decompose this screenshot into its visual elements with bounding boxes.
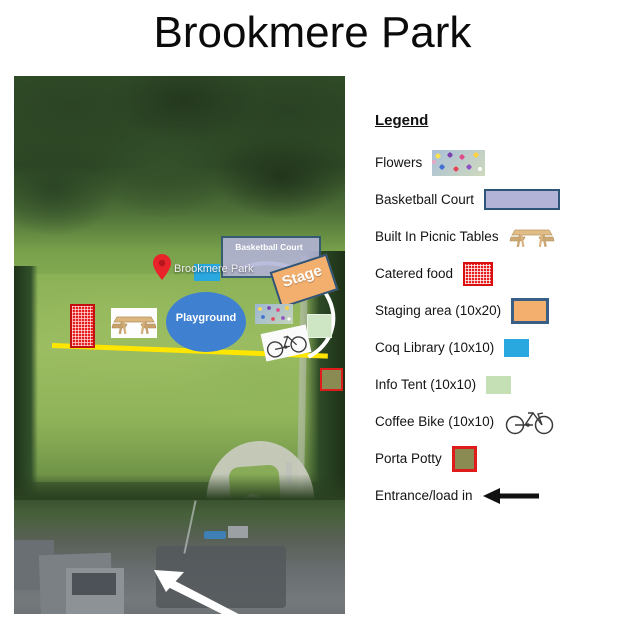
map-picnic-table[interactable] bbox=[111, 308, 157, 338]
bicycle-glyph bbox=[504, 409, 556, 435]
legend-label-catered-food: Catered food bbox=[375, 266, 453, 281]
staging-area-swatch bbox=[511, 298, 549, 324]
picnic-table-icon bbox=[509, 224, 555, 250]
map-porta-potty[interactable] bbox=[320, 368, 343, 391]
legend-label-flowers: Flowers bbox=[375, 155, 422, 170]
legend-item-staging-area[interactable]: Staging area (10x20) bbox=[375, 292, 620, 329]
shed bbox=[228, 526, 248, 538]
parking-lot bbox=[156, 546, 286, 608]
park-pin-label: Brookmere Park bbox=[174, 263, 253, 275]
catered-food-swatch bbox=[463, 262, 493, 286]
park-map[interactable]: Basketball Court Stage Playground bbox=[14, 76, 345, 614]
legend-item-picnic-tables[interactable]: Built In Picnic Tables bbox=[375, 218, 620, 255]
basketball-court-swatch bbox=[484, 189, 560, 210]
legend-label-porta-potty: Porta Potty bbox=[375, 451, 442, 466]
legend-label-staging-area: Staging area (10x20) bbox=[375, 303, 501, 318]
coffee-bike-icon bbox=[504, 409, 556, 435]
map-playground-label: Playground bbox=[166, 312, 246, 324]
legend: Legend Flowers Basketball Court Built In… bbox=[375, 112, 620, 514]
legend-label-coq-library: Coq Library (10x10) bbox=[375, 340, 494, 355]
legend-item-flowers[interactable]: Flowers bbox=[375, 144, 620, 181]
page-title: Brookmere Park bbox=[0, 8, 625, 58]
arrow-left-glyph bbox=[483, 486, 539, 506]
legend-title: Legend bbox=[375, 112, 620, 129]
treeline-left bbox=[14, 266, 38, 496]
legend-item-coffee-bike[interactable]: Coffee Bike (10x10) bbox=[375, 403, 620, 440]
building-roof bbox=[72, 573, 116, 595]
legend-label-info-tent: Info Tent (10x10) bbox=[375, 377, 476, 392]
picnic-table-icon bbox=[111, 308, 157, 338]
legend-label-coffee-bike: Coffee Bike (10x10) bbox=[375, 414, 494, 429]
legend-item-coq-library[interactable]: Coq Library (10x10) bbox=[375, 329, 620, 366]
map-basketball-court-label: Basketball Court bbox=[221, 242, 317, 252]
coq-library-swatch bbox=[504, 339, 529, 357]
legend-label-picnic-tables: Built In Picnic Tables bbox=[375, 229, 499, 244]
legend-label-entrance: Entrance/load in bbox=[375, 488, 473, 503]
info-tent-swatch bbox=[486, 376, 511, 394]
picnic-table-glyph bbox=[509, 224, 555, 250]
legend-label-basketball-court: Basketball Court bbox=[375, 192, 474, 207]
park-map-pin-icon[interactable] bbox=[153, 254, 171, 280]
porta-potty-swatch bbox=[452, 446, 477, 472]
legend-item-info-tent[interactable]: Info Tent (10x10) bbox=[375, 366, 620, 403]
legend-item-catered-food[interactable]: Catered food bbox=[375, 255, 620, 292]
pool bbox=[204, 531, 226, 539]
map-info-tent[interactable] bbox=[307, 314, 332, 338]
flowers-photo-swatch bbox=[432, 150, 485, 176]
map-catered-food[interactable] bbox=[70, 304, 95, 348]
legend-item-basketball-court[interactable]: Basketball Court bbox=[375, 181, 620, 218]
arrow-left-icon bbox=[483, 486, 539, 506]
legend-item-entrance[interactable]: Entrance/load in bbox=[375, 477, 620, 514]
legend-item-porta-potty[interactable]: Porta Potty bbox=[375, 440, 620, 477]
map-flowers[interactable] bbox=[255, 304, 293, 324]
